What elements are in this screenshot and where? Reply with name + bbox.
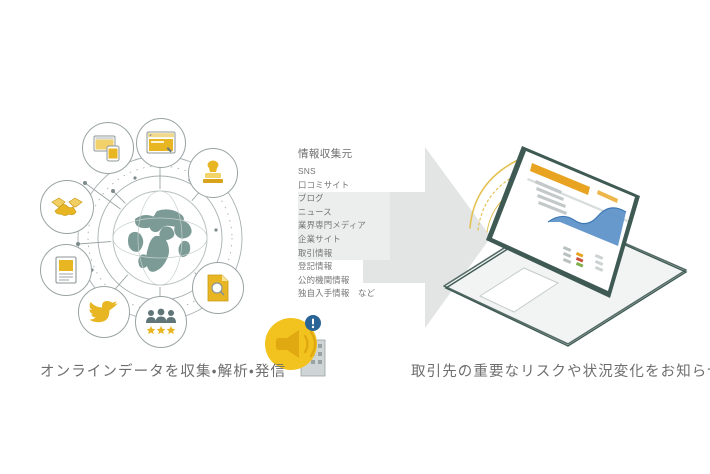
- laptop-dashboard-illustration: [440, 118, 690, 348]
- illustration-stage: 情報収集元 SNS 口コミサイト ブログ ニュース 業界専門メディア 企業サイト…: [0, 0, 710, 474]
- list-item: 登記情報: [298, 260, 390, 274]
- online-data-network-illustration: [40, 118, 280, 358]
- list-item: 口コミサイト: [298, 179, 390, 193]
- book-ledger-icon: [40, 244, 92, 296]
- list-item: SNS: [298, 165, 390, 179]
- browser-window-icon: [136, 118, 186, 168]
- devices-monitor-mobile-icon: [82, 122, 134, 174]
- document-search-icon: [192, 262, 244, 314]
- list-item: 業界専門メディア: [298, 219, 390, 233]
- twitter-bird-icon: [78, 286, 130, 338]
- alert-exclamation-badge-icon: [305, 315, 321, 331]
- list-item: 企業サイト: [298, 233, 390, 247]
- source-list-title: 情報収集元: [298, 146, 390, 161]
- source-list-items: SNS 口コミサイト ブログ ニュース 業界専門メディア 企業サイト 取引情報 …: [298, 165, 390, 301]
- people-rating-stars-icon: [135, 296, 187, 348]
- left-caption: オンラインデータを収集・解析・発信: [40, 360, 286, 381]
- world-globe: [111, 189, 209, 287]
- list-item: 公的機関情報: [298, 274, 390, 288]
- list-item: 独自入手情報 など: [298, 287, 390, 301]
- right-caption: 取引先の重要なリスクや状況変化をお知らせ: [411, 360, 710, 381]
- information-source-list: 情報収集元 SNS 口コミサイト ブログ ニュース 業界専門メディア 企業サイト…: [298, 146, 390, 301]
- list-item: ニュース: [298, 206, 390, 220]
- list-item: 取引情報: [298, 247, 390, 261]
- list-item: ブログ: [298, 192, 390, 206]
- handshake-icon: [40, 180, 94, 234]
- stamp-seal-icon: [188, 148, 238, 198]
